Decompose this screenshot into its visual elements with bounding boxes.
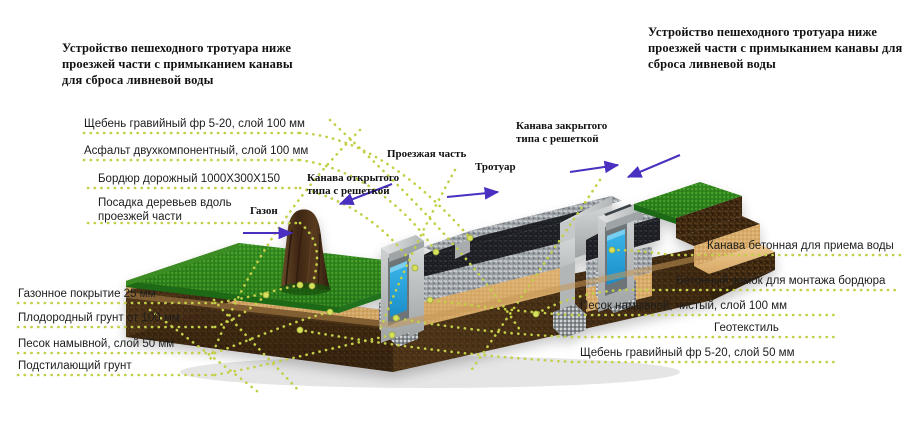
- label-concrete-ditch: Канава бетонная для приема воды: [707, 239, 894, 253]
- label-concrete-lock: Бетонный замок для монтажа бордюра: [676, 274, 885, 288]
- title-left: Устройство пешеходного тротуара ниже про…: [62, 40, 312, 88]
- label-road-curb: Бордюр дорожный 1000Х300Х150: [98, 172, 280, 186]
- label-roadway: Проезжая часть: [387, 148, 466, 161]
- label-subgrade: Подстилающий грунт: [18, 359, 132, 373]
- label-lawn: Газон: [250, 205, 278, 218]
- label-lawn-cover-25: Газонное покрытие 25 мм: [18, 287, 155, 301]
- label-crushed-stone-50: Щебень гравийный фр 5-20, слой 50 мм: [580, 346, 794, 360]
- label-open-ditch: Канава открытого типа с решеткой: [307, 172, 405, 198]
- label-sidewalk: Тротуар: [475, 161, 516, 174]
- label-closed-ditch: Канава закрытого типа с решеткой: [516, 120, 608, 146]
- diagram-canvas: Устройство пешеходного тротуара ниже про…: [0, 0, 910, 437]
- label-fertile-soil-100: Плодородный грунт от 100 мм: [18, 311, 180, 325]
- label-sand-50: Песок намывной, слой 50 мм: [18, 337, 174, 351]
- title-right: Устройство пешеходного тротуара ниже про…: [648, 24, 904, 72]
- label-tree-planting: Посадка деревьев вдоль проезжей части: [98, 196, 248, 224]
- label-clean-sand-100: Песок намывной, чистый, слой 100 мм: [580, 299, 787, 313]
- label-asphalt-100: Асфальт двухкомпонентный, слой 100 мм: [84, 144, 308, 158]
- label-crushed-stone-100: Щебень гравийный фр 5-20, слой 100 мм: [84, 117, 305, 131]
- label-geotextile: Геотекстиль: [714, 321, 779, 335]
